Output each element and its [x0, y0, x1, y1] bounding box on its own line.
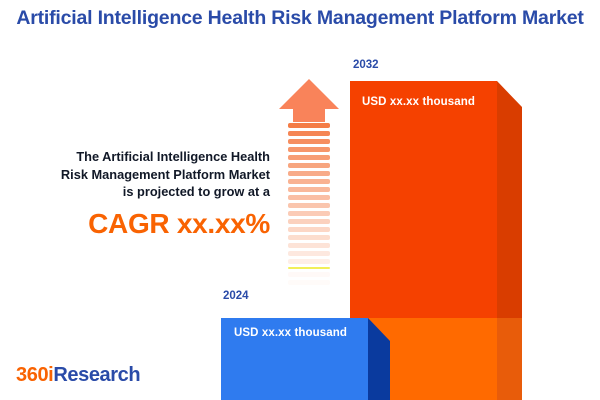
bar-2032-value-label: USD xx.xx thousand [362, 96, 475, 108]
arrow-stripe [288, 155, 330, 160]
arrow-stripe [288, 259, 330, 264]
statement-line-2: Risk Management Platform Market [8, 166, 270, 184]
arrow-stripe [288, 267, 330, 269]
statement-line-1: The Artificial Intelligence Health [8, 148, 270, 166]
arrow-stripe [288, 219, 330, 224]
up-arrow-tail-stripes [288, 123, 330, 290]
arrow-stripe [288, 251, 330, 256]
arrow-stripe [288, 195, 330, 200]
arrow-stripe [288, 211, 330, 216]
arrow-stripe [288, 163, 330, 168]
arrow-stripe [288, 280, 330, 285]
up-arrow-head-icon [278, 78, 340, 123]
arrow-stripe [288, 227, 330, 232]
infographic-canvas: Artificial Intelligence Health Risk Mana… [0, 0, 600, 400]
arrow-stripe [288, 147, 330, 152]
arrow-stripe [288, 235, 330, 240]
arrow-stripe [288, 139, 330, 144]
arrow-stripe [288, 243, 330, 248]
arrow-stripe [288, 203, 330, 208]
arrow-stripe [288, 272, 330, 277]
logo-research-text: Research [53, 364, 140, 386]
bar-2024-value-label: USD xx.xx thousand [234, 327, 347, 339]
brand-logo[interactable]: 360iResearch [16, 364, 140, 387]
statement-line-3: is projected to grow at a [8, 183, 270, 201]
year-label-2032: 2032 [353, 59, 379, 71]
arrow-stripe [288, 123, 330, 128]
bar-2032-side-face-lower [497, 318, 522, 400]
logo-360i-text: 360i [16, 364, 53, 386]
arrow-stripe [288, 179, 330, 184]
cagr-value: CAGR xx.xx% [8, 208, 270, 240]
statement-block: The Artificial Intelligence Health Risk … [8, 148, 270, 240]
arrow-stripe [288, 187, 330, 192]
year-label-2024: 2024 [223, 290, 249, 302]
page-title: Artificial Intelligence Health Risk Mana… [14, 6, 586, 31]
arrow-stripe [288, 171, 330, 176]
arrow-stripe [288, 131, 330, 136]
up-arrow-icon [278, 78, 340, 290]
bar-2024-side-face [368, 318, 390, 400]
